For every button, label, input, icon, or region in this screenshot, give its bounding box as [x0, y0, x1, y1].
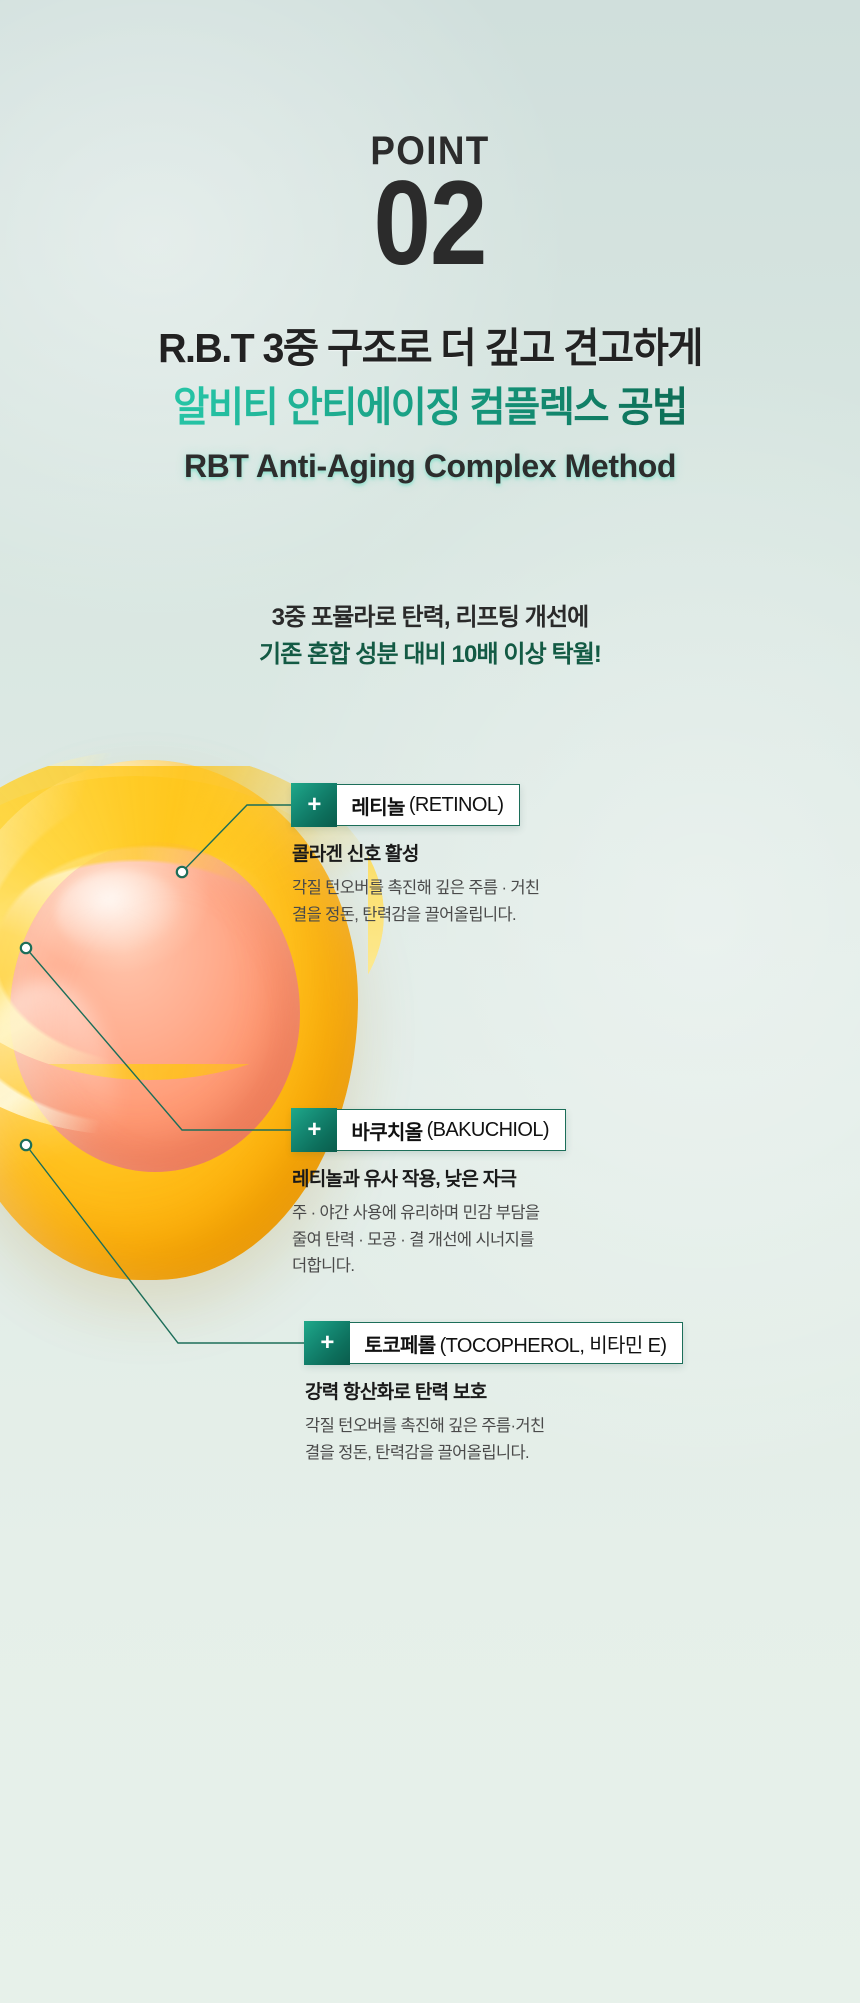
callout-tocopherol-title-en: (TOCOPHEROL, 비타민 E)	[440, 1329, 667, 1358]
callout-retinol-body-line-2: 결을 정돈, 탄력감을 끌어올립니다.	[292, 902, 540, 929]
plus-icon: +	[291, 783, 337, 826]
callout-tocopherol-body-line-2: 결을 정돈, 탄력감을 끌어올립니다.	[305, 1440, 683, 1467]
headline-subtitle-en: RBT Anti-Aging Complex Method	[0, 448, 860, 485]
callout-bakuchiol-body: 주 · 야간 사용에 유리하며 민감 부담을 줄여 탄력 · 모공 · 결 개선…	[292, 1200, 566, 1280]
callout-tocopherol-subtitle: 강력 항산화로 탄력 보호	[305, 1377, 683, 1404]
headline-line-1: R.B.T 3중 구조로 더 깊고 견고하게	[17, 314, 843, 374]
callout-tocopherol-body-line-1: 각질 턴오버를 촉진해 깊은 주름·거친	[305, 1413, 683, 1440]
point-number: 02	[60, 160, 800, 286]
callout-bakuchiol: + 바쿠치올 (BAKUCHIOL) 레티놀과 유사 작용, 낮은 자극 주 ·…	[292, 1109, 566, 1280]
callout-tocopherol-body: 각질 턴오버를 촉진해 깊은 주름·거친 결을 정돈, 탄력감을 끌어올립니다.	[305, 1413, 683, 1466]
callout-bakuchiol-body-line-2: 줄여 탄력 · 모공 · 결 개선에 시너지를	[292, 1227, 566, 1254]
callout-retinol: + 레티놀 (RETINOL) 콜라겐 신호 활성 각질 턴오버를 촉진해 깊은…	[292, 784, 540, 928]
callout-bakuchiol-tag[interactable]: + 바쿠치올 (BAKUCHIOL)	[292, 1109, 566, 1151]
callout-bakuchiol-body-line-1: 주 · 야간 사용에 유리하며 민감 부담을	[292, 1200, 566, 1227]
callout-bakuchiol-title: 바쿠치올 (BAKUCHIOL)	[337, 1110, 565, 1150]
callout-retinol-body: 각질 턴오버를 촉진해 깊은 주름 · 거친 결을 정돈, 탄력감을 끌어올립니…	[292, 875, 540, 928]
callout-retinol-title-ko: 레티놀	[351, 791, 404, 820]
callout-tocopherol-title-ko: 토코페롤	[364, 1329, 435, 1358]
plus-icon: +	[291, 1108, 337, 1151]
callout-retinol-tag[interactable]: + 레티놀 (RETINOL)	[292, 784, 520, 826]
subcopy-line-1: 3중 포뮬라로 탄력, 리프팅 개선에	[0, 597, 860, 632]
callout-bakuchiol-title-en: (BAKUCHIOL)	[427, 1119, 549, 1142]
callout-tocopherol-tag[interactable]: + 토코페롤 (TOCOPHEROL, 비타민 E)	[305, 1322, 683, 1364]
callout-bakuchiol-title-ko: 바쿠치올	[351, 1116, 422, 1145]
callout-retinol-subtitle: 콜라겐 신호 활성	[292, 839, 540, 866]
headline-line-2: 알비티 안티에이징 컴플렉스 공법	[17, 373, 843, 433]
callout-tocopherol: + 토코페롤 (TOCOPHEROL, 비타민 E) 강력 항산화로 탄력 보호…	[305, 1322, 683, 1466]
callout-tocopherol-title: 토코페롤 (TOCOPHEROL, 비타민 E)	[350, 1323, 682, 1363]
callout-bakuchiol-subtitle: 레티놀과 유사 작용, 낮은 자극	[292, 1164, 566, 1191]
callout-bakuchiol-body-line-3: 더합니다.	[292, 1253, 566, 1280]
infographic-page: POINT 02 R.B.T 3중 구조로 더 깊고 견고하게 알비티 안티에이…	[0, 0, 860, 2003]
subcopy-line-2: 기존 혼합 성분 대비 10배 이상 탁월!	[0, 634, 860, 669]
plus-icon: +	[304, 1321, 350, 1364]
callout-retinol-body-line-1: 각질 턴오버를 촉진해 깊은 주름 · 거친	[292, 875, 540, 902]
callout-retinol-title: 레티놀 (RETINOL)	[337, 785, 519, 825]
callout-retinol-title-en: (RETINOL)	[409, 794, 504, 817]
